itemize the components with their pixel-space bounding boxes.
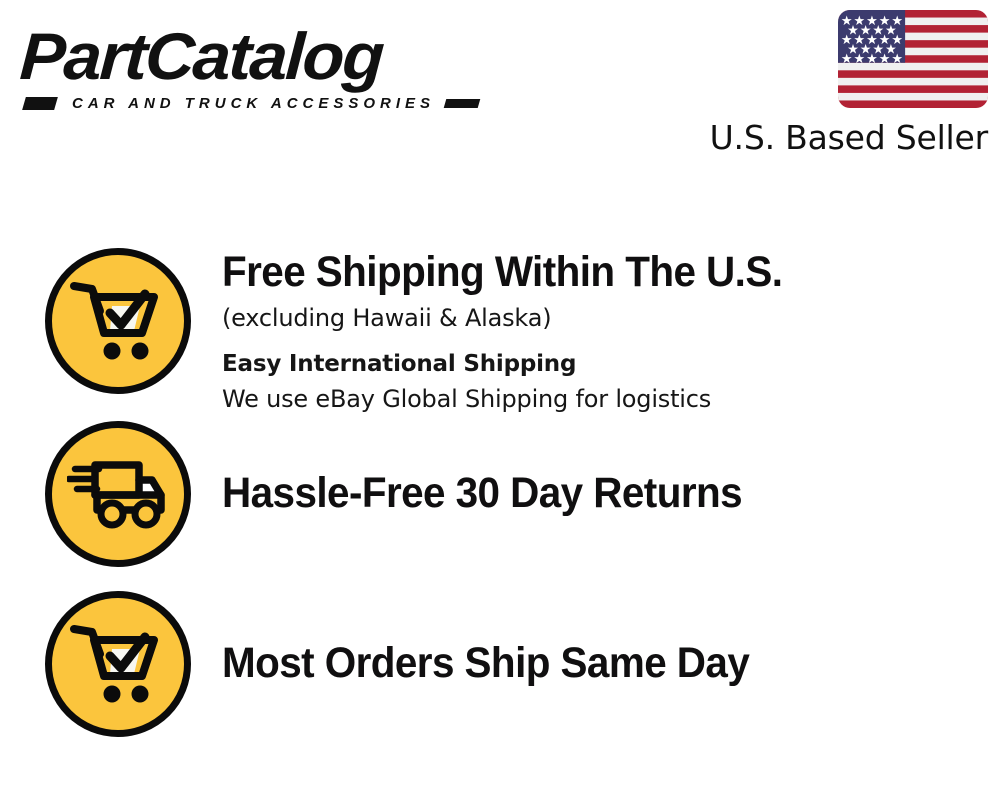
benefit-row: Hassle-Free 30 Day Returns — [0, 421, 1000, 571]
delivery-truck-icon — [45, 421, 191, 567]
benefit-subtitle-bold: Easy International Shipping — [222, 347, 982, 381]
benefit-title: Most Orders Ship Same Day — [222, 639, 936, 687]
benefit-title: Free Shipping Within The U.S. — [222, 248, 936, 296]
benefit-text-block: Most Orders Ship Same Day — [222, 591, 982, 687]
benefit-text-block: Free Shipping Within The U.S. (excluding… — [222, 248, 982, 416]
cart-check-icon — [45, 248, 191, 394]
benefit-note: (excluding Hawaii & Alaska) — [222, 302, 982, 335]
benefit-subtitle-plain: We use eBay Global Shipping for logistic… — [222, 383, 982, 416]
shipping-info-banner: PartCatalog CAR AND TRUCK ACCESSORIES — [0, 0, 1000, 800]
benefit-text-block: Hassle-Free 30 Day Returns — [222, 421, 982, 517]
benefit-row: Most Orders Ship Same Day — [0, 591, 1000, 741]
benefits-list: Free Shipping Within The U.S. (excluding… — [0, 0, 1000, 800]
benefit-row: Free Shipping Within The U.S. (excluding… — [0, 248, 1000, 408]
benefit-title: Hassle-Free 30 Day Returns — [222, 469, 936, 517]
cart-check-icon — [45, 591, 191, 737]
